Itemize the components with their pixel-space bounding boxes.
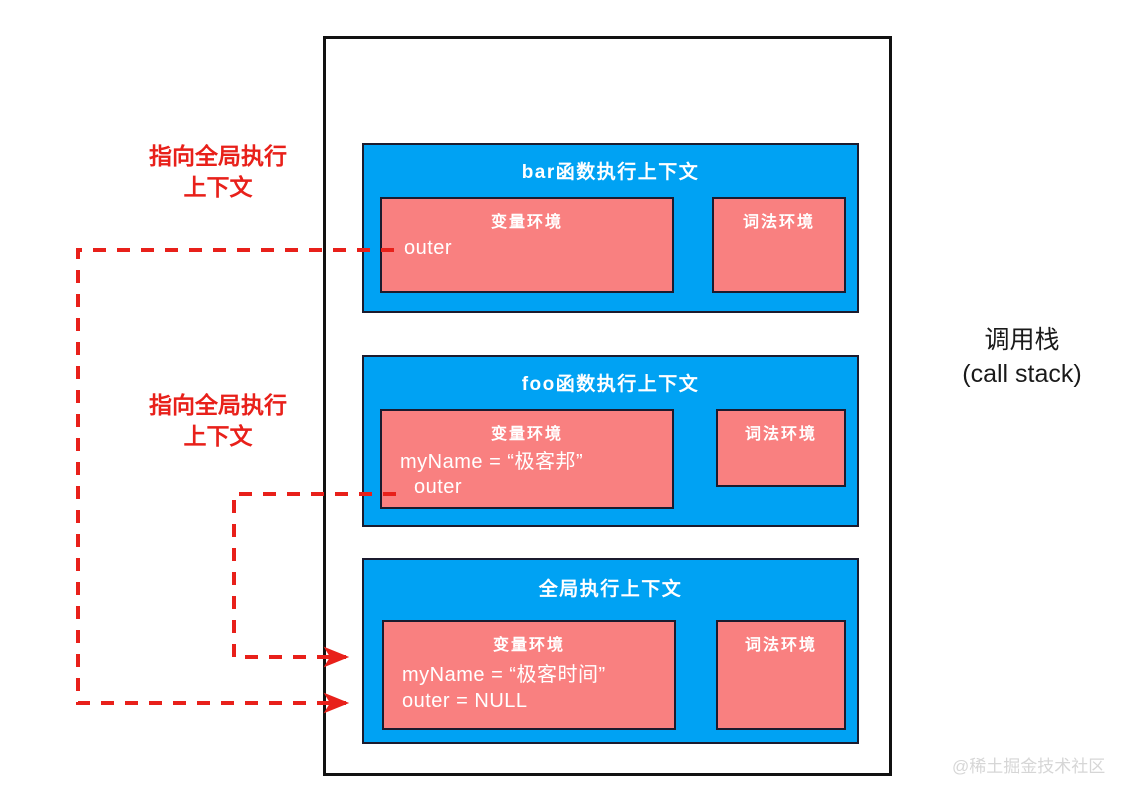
annotation-bar-outer: 指向全局执行 上下文 xyxy=(128,141,308,203)
lexical-environment-title-global: 词法环境 xyxy=(718,631,844,655)
execution-context-bar: bar函数执行上下文 变量环境 outer 词法环境 xyxy=(362,143,859,313)
variable-entry: outer xyxy=(404,237,452,260)
variable-entry: myName = “极客时间” xyxy=(402,658,606,687)
watermark: @稀土掘金技术社区 xyxy=(952,752,1105,777)
lexical-environment-title-bar: 词法环境 xyxy=(714,208,844,232)
context-title-global: 全局执行上下文 xyxy=(364,574,857,601)
lexical-environment-bar: 词法环境 xyxy=(712,197,846,293)
variable-entry: outer = NULL xyxy=(402,690,528,713)
diagram-canvas: bar函数执行上下文 变量环境 outer 词法环境 foo函数执行上下文 变量… xyxy=(0,0,1142,797)
call-stack-caption: 调用栈 (call stack) xyxy=(932,324,1112,392)
caption-line-cn: 调用栈 xyxy=(932,324,1112,358)
variable-environment-bar: 变量环境 outer xyxy=(380,197,674,293)
execution-context-global: 全局执行上下文 变量环境 myName = “极客时间” outer = NUL… xyxy=(362,558,859,744)
annotation-line: 上下文 xyxy=(128,172,308,203)
lexical-environment-title-foo: 词法环境 xyxy=(718,420,844,444)
context-title-foo: foo函数执行上下文 xyxy=(364,369,857,396)
caption-line-en: (call stack) xyxy=(932,358,1112,392)
context-title-bar: bar函数执行上下文 xyxy=(364,157,857,184)
lexical-environment-foo: 词法环境 xyxy=(716,409,846,487)
annotation-line: 指向全局执行 xyxy=(128,141,308,172)
lexical-environment-global: 词法环境 xyxy=(716,620,846,730)
variable-environment-title-global: 变量环境 xyxy=(384,631,674,655)
variable-environment-global: 变量环境 myName = “极客时间” outer = NULL xyxy=(382,620,676,730)
execution-context-foo: foo函数执行上下文 变量环境 myName = “极客邦” outer 词法环… xyxy=(362,355,859,527)
annotation-foo-outer: 指向全局执行 上下文 xyxy=(128,390,308,452)
variable-entry: myName = “极客邦” xyxy=(400,445,583,474)
annotation-line: 上下文 xyxy=(128,421,308,452)
annotation-line: 指向全局执行 xyxy=(128,390,308,421)
variable-environment-title-bar: 变量环境 xyxy=(382,208,672,232)
variable-environment-title-foo: 变量环境 xyxy=(382,420,672,444)
variable-environment-foo: 变量环境 myName = “极客邦” outer xyxy=(380,409,674,509)
variable-entry: outer xyxy=(414,476,462,499)
